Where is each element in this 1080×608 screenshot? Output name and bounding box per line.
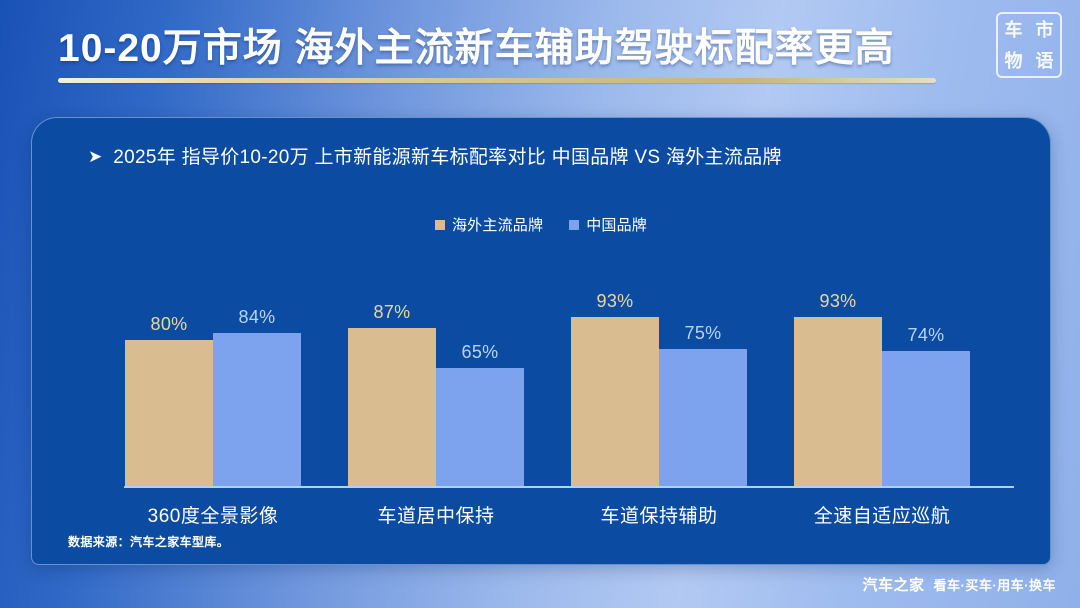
bar-value-label: 74% xyxy=(882,325,970,346)
x-axis-line xyxy=(124,486,1014,488)
bar-group: 93%75% xyxy=(570,268,748,486)
footer-brand: 汽车之家 看车·买车·用车·换车 xyxy=(862,574,1056,595)
bar-china[interactable]: 84% xyxy=(213,268,301,486)
seal-char-3: 物 xyxy=(1005,52,1023,70)
bar-rect xyxy=(571,317,659,486)
chart-subtitle-row: ➤ 2025年 指导价10-20万 上市新能源新车标配率对比 中国品牌 VS 海… xyxy=(88,142,782,169)
legend-swatch-icon xyxy=(569,220,579,230)
legend-swatch-icon xyxy=(435,220,445,230)
title-divider xyxy=(58,78,936,83)
legend-label: 中国品牌 xyxy=(586,214,647,235)
footer-brand-tagline: 看车·买车·用车·换车 xyxy=(934,575,1057,594)
bar-rect xyxy=(436,368,524,486)
data-source-note: 数据来源：汽车之家车型库。 xyxy=(68,533,229,550)
seal-char-1: 车 xyxy=(1005,21,1023,39)
bar-value-label: 65% xyxy=(436,342,524,363)
header-band: 10-20万市场 海外主流新车辅助驾驶标配率更高 车 市 物 语 xyxy=(0,0,1080,96)
bar-rect xyxy=(659,349,747,486)
bar-china[interactable]: 65% xyxy=(436,268,524,486)
bar-overseas[interactable]: 80% xyxy=(125,268,213,486)
bar-rect xyxy=(348,328,436,486)
x-axis-category-labels: 360度全景影像车道居中保持车道保持辅助全速自适应巡航 xyxy=(92,501,992,535)
chart-plot-area: 80%84%87%65%93%75%93%74% xyxy=(92,268,992,486)
chart-legend: 海外主流品牌中国品牌 xyxy=(32,214,1050,235)
seal-char-2: 市 xyxy=(1036,21,1054,39)
bar-group: 80%84% xyxy=(124,268,302,486)
bar-china[interactable]: 75% xyxy=(659,268,747,486)
bar-group: 93%74% xyxy=(793,268,971,486)
footer-brand-name: 汽车之家 xyxy=(862,574,924,595)
chart-subtitle: 2025年 指导价10-20万 上市新能源新车标配率对比 中国品牌 VS 海外主… xyxy=(113,142,782,169)
bar-rect xyxy=(213,333,301,486)
bar-rect xyxy=(125,340,213,486)
bar-rect xyxy=(794,317,882,486)
legend-label: 海外主流品牌 xyxy=(452,214,543,235)
slide-root: 10-20万市场 海外主流新车辅助驾驶标配率更高 车 市 物 语 ➤ 2025年… xyxy=(0,0,1080,608)
bar-value-label: 87% xyxy=(348,302,436,323)
bar-overseas[interactable]: 87% xyxy=(348,268,436,486)
arrow-bullet-icon: ➤ xyxy=(88,148,102,165)
legend-item-overseas[interactable]: 海外主流品牌 xyxy=(435,214,543,235)
bar-overseas[interactable]: 93% xyxy=(794,268,882,486)
brand-seal-logo: 车 市 物 语 xyxy=(996,12,1062,78)
bar-overseas[interactable]: 93% xyxy=(571,268,659,486)
bar-value-label: 80% xyxy=(125,314,213,335)
bar-china[interactable]: 74% xyxy=(882,268,970,486)
category-label: 360度全景影像 xyxy=(124,501,302,528)
bar-value-label: 84% xyxy=(213,307,301,328)
seal-char-4: 语 xyxy=(1036,52,1054,70)
page-title: 10-20万市场 海外主流新车辅助驾驶标配率更高 xyxy=(58,17,895,73)
bar-value-label: 93% xyxy=(794,291,882,312)
chart-panel: ➤ 2025年 指导价10-20万 上市新能源新车标配率对比 中国品牌 VS 海… xyxy=(31,117,1051,565)
category-label: 全速自适应巡航 xyxy=(793,501,971,528)
bar-value-label: 93% xyxy=(571,291,659,312)
bar-group: 87%65% xyxy=(347,268,525,486)
category-label: 车道保持辅助 xyxy=(570,501,748,528)
bar-rect xyxy=(882,351,970,486)
category-label: 车道居中保持 xyxy=(347,501,525,528)
bar-value-label: 75% xyxy=(659,323,747,344)
legend-item-china[interactable]: 中国品牌 xyxy=(569,214,647,235)
